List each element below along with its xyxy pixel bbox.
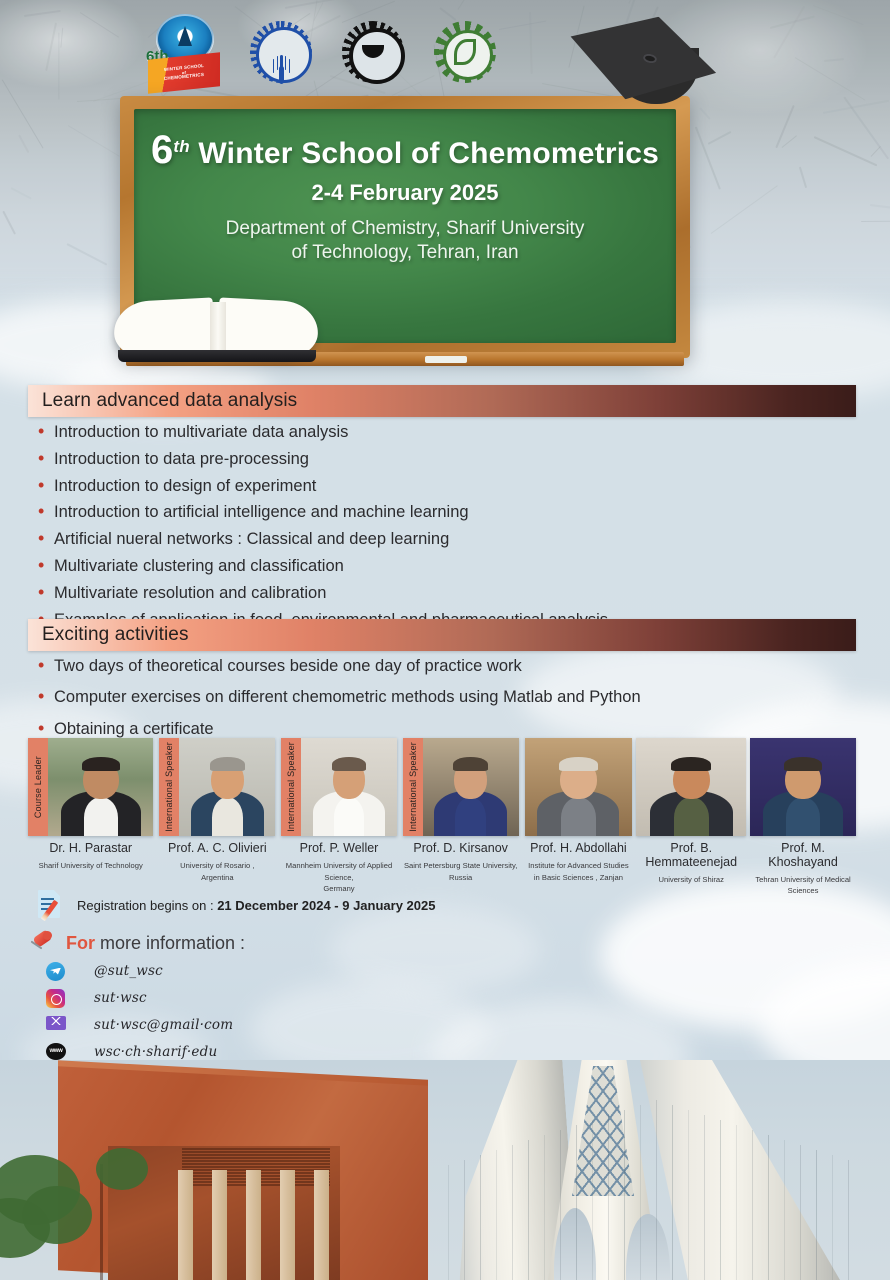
speaker-name: Prof. D. Kirsanov (403, 842, 519, 856)
venue-line-1: Department of Chemistry, Sharif Universi… (146, 217, 664, 241)
green-chemistry-logo (434, 21, 496, 83)
website-icon: www (46, 1043, 68, 1062)
rib (560, 1130, 561, 1280)
more-information-highlight: For (66, 933, 95, 953)
speaker-photo: International Speaker (281, 738, 397, 836)
rib (784, 1140, 785, 1280)
speaker-affiliation: Institute for Advanced Studiesin Basic S… (525, 860, 633, 884)
contact-value: wsc·ch·sharif·edu (94, 1044, 217, 1060)
rib (624, 1110, 625, 1280)
speaker-name: Prof. M. Khoshayand (750, 842, 856, 870)
section-header-topics-label: Learn advanced data analysis (28, 390, 297, 412)
logo-row: 6th WINTER SCHOOL of CHEMOMETRICS (148, 8, 508, 96)
speaker-badge-label: International Speaker (286, 742, 296, 832)
document-pencil-icon (34, 888, 68, 922)
speaker-affiliation: University of Shiraz (636, 874, 746, 886)
chalkboard-text: 6th Winter School of Chemometrics 2-4 Fe… (120, 132, 690, 265)
azadi-tower (430, 1060, 890, 1280)
flask-icon (178, 26, 192, 46)
speaker-name: Prof. B. Hemmateenejad (636, 842, 746, 870)
twig (18, 135, 29, 153)
twig (870, 145, 881, 156)
speaker-badge: International Speaker (159, 738, 179, 836)
telegram-icon (46, 962, 68, 981)
twig (2, 211, 16, 235)
column (280, 1170, 295, 1280)
twig (776, 105, 795, 148)
rib (640, 1105, 641, 1280)
iranian-chemical-society-logo (342, 21, 404, 83)
speaker-card: Prof. B. HemmateenejadUniversity of Shir… (636, 738, 746, 885)
pushpin-icon (28, 930, 56, 956)
event-title: Winter School of Chemometrics (198, 137, 659, 170)
rib (704, 1115, 705, 1280)
list-item: Introduction to multivariate data analys… (36, 424, 856, 441)
speaker-name: Prof. H. Abdollahi (525, 842, 633, 856)
rib (528, 1140, 529, 1280)
column (212, 1170, 227, 1280)
speaker-photo (525, 738, 633, 836)
registration-notice: Registration begins on : 21 December 202… (34, 888, 435, 922)
speaker-photo (636, 738, 746, 836)
speaker-badge: Course Leader (28, 738, 48, 836)
rib (496, 1150, 497, 1280)
speaker-portrait (750, 738, 856, 836)
speaker-portrait (525, 738, 633, 836)
speaker-card: Prof. H. AbdollahiInstitute for Advanced… (525, 738, 633, 883)
rib (768, 1135, 769, 1280)
speaker-card: International SpeakerProf. P. WellerMann… (281, 738, 397, 895)
slat (182, 1166, 330, 1168)
more-information-heading: For more information : (28, 930, 245, 956)
sharif-emblem-icon (264, 37, 298, 71)
rib (608, 1115, 609, 1280)
speaker-badge: International Speaker (281, 738, 301, 836)
speaker-affiliation: Tehran University of MedicalSciences (750, 874, 856, 898)
twig (824, 58, 844, 62)
contact-value: sut·wsc@gmail·com (94, 1017, 233, 1033)
slat (182, 1157, 330, 1159)
list-item: Introduction to artificial intelligence … (36, 504, 856, 521)
twig (60, 27, 63, 47)
bottom-photo (0, 1060, 890, 1280)
rib (464, 1160, 465, 1280)
winter-school-ribbon-line3: CHEMOMETRICS (164, 73, 204, 82)
rib (720, 1120, 721, 1280)
list-item: Introduction to data pre-processing (36, 451, 856, 468)
contact-value: @sut_wsc (94, 963, 163, 979)
winter-school-ribbon: WINTER SCHOOL of CHEMOMETRICS (148, 52, 220, 94)
speaker-portrait (423, 738, 519, 836)
graduation-cap-icon (565, 8, 775, 118)
rib (832, 1155, 833, 1280)
speaker-portrait (48, 738, 153, 836)
instagram-icon (46, 989, 68, 1008)
edition-number: 6 (151, 128, 173, 172)
slat (182, 1151, 330, 1153)
tree (96, 1148, 148, 1190)
rib (672, 1105, 673, 1280)
chalk-stick (425, 356, 467, 363)
twig (11, 187, 33, 200)
rib (688, 1110, 689, 1280)
speaker-photo (750, 738, 856, 836)
speaker-card: Course LeaderDr. H. ParastarSharif Unive… (28, 738, 153, 872)
registration-label: Registration begins on : (77, 898, 217, 913)
slat (182, 1148, 330, 1150)
rib (656, 1100, 657, 1280)
speaker-badge-label: Course Leader (33, 756, 43, 818)
section-header-activities-label: Exciting activities (28, 624, 189, 646)
list-item: Computer exercises on different chemomet… (36, 689, 856, 706)
more-information-title: For more information : (66, 933, 245, 954)
list-item: Introduction to design of experiment (36, 478, 856, 495)
slat (182, 1154, 330, 1156)
speaker-affiliation: Sharif University of Technology (28, 860, 153, 872)
speaker-portrait (179, 738, 275, 836)
rib (480, 1155, 481, 1280)
rib (576, 1125, 577, 1280)
twig (46, 23, 57, 71)
slat (182, 1160, 330, 1162)
twig (696, 126, 721, 189)
twig (708, 131, 732, 145)
speaker-photo: International Speaker (403, 738, 519, 836)
speaker-portrait (301, 738, 397, 836)
sharif-university-logo (250, 21, 312, 83)
rib (544, 1135, 545, 1280)
twig (80, 12, 119, 38)
more-information-rest: more information : (95, 933, 245, 953)
column (178, 1170, 193, 1280)
column (246, 1170, 261, 1280)
rib (800, 1145, 801, 1280)
twig (813, 5, 864, 25)
rib (512, 1145, 513, 1280)
contact-row[interactable]: sut·wsc (46, 987, 233, 1009)
registration-text: Registration begins on : 21 December 202… (77, 898, 435, 913)
contact-row[interactable]: @sut_wsc (46, 960, 233, 982)
list-item: Multivariate resolution and calibration (36, 585, 856, 602)
list-item: Two days of theoretical courses beside o… (36, 658, 856, 675)
open-book-icon (112, 286, 322, 362)
speaker-badge: International Speaker (403, 738, 423, 836)
rib (816, 1150, 817, 1280)
rib (736, 1125, 737, 1280)
section-header-topics: Learn advanced data analysis (28, 385, 856, 417)
twig (870, 204, 890, 211)
section-header-activities: Exciting activities (28, 619, 856, 651)
speaker-name: Prof. P. Weller (281, 842, 397, 856)
speaker-portrait (636, 738, 746, 836)
speaker-affiliation: Saint Petersburg State University,Russia (403, 860, 519, 884)
speaker-badge-label: International Speaker (164, 742, 174, 832)
rib (448, 1165, 449, 1280)
rib (848, 1160, 849, 1280)
list-item: Artificial nueral networks : Classical a… (36, 531, 856, 548)
topics-list: Introduction to multivariate data analys… (36, 424, 856, 639)
azadi-right-leg (640, 1060, 840, 1280)
speaker-photo: Course Leader (28, 738, 153, 836)
edition-ordinal: th (173, 137, 189, 156)
column (314, 1170, 329, 1280)
speaker-card: International SpeakerProf. A. C. Olivier… (159, 738, 275, 883)
twig (814, 136, 878, 167)
venue-line-2: of Technology, Tehran, Iran (146, 241, 664, 265)
rib (592, 1120, 593, 1280)
twig (24, 10, 61, 17)
twig (861, 221, 890, 223)
list-item: Obtaining a certificate (36, 721, 856, 738)
rib (752, 1130, 753, 1280)
twig (782, 135, 798, 148)
page-title: 6th Winter School of Chemometrics (146, 132, 664, 171)
twig (67, 243, 108, 265)
speaker-name: Prof. A. C. Olivieri (159, 842, 275, 856)
contact-value: sut·wsc (94, 990, 147, 1006)
registration-dates: 21 December 2024 - 9 January 2025 (217, 898, 435, 913)
speaker-name: Dr. H. Parastar (28, 842, 153, 856)
email-icon (46, 1016, 68, 1035)
speakers-section: Course LeaderDr. H. ParastarSharif Unive… (28, 738, 856, 897)
twig (799, 166, 807, 188)
list-item: Multivariate clustering and classificati… (36, 558, 856, 575)
speaker-photo: International Speaker (159, 738, 275, 836)
twig (795, 57, 865, 100)
twig (773, 6, 805, 59)
event-venue: Department of Chemistry, Sharif Universi… (146, 217, 664, 265)
slat (182, 1163, 330, 1165)
twig (711, 185, 778, 234)
speaker-affiliation: University of Rosario ,Argentina (159, 860, 275, 884)
speaker-badge-label: International Speaker (408, 742, 418, 832)
contact-row[interactable]: sut·wsc@gmail·com (46, 1014, 233, 1036)
speaker-card: Prof. M. KhoshayandTehran University of … (750, 738, 856, 897)
winter-school-logo: 6th WINTER SCHOOL of CHEMOMETRICS (148, 12, 220, 92)
speaker-card: International SpeakerProf. D. KirsanovSa… (403, 738, 519, 883)
event-date: 2-4 February 2025 (146, 180, 664, 206)
twig (68, 125, 120, 157)
twig (528, 12, 532, 74)
speaker-row: Course LeaderDr. H. ParastarSharif Unive… (28, 738, 856, 897)
